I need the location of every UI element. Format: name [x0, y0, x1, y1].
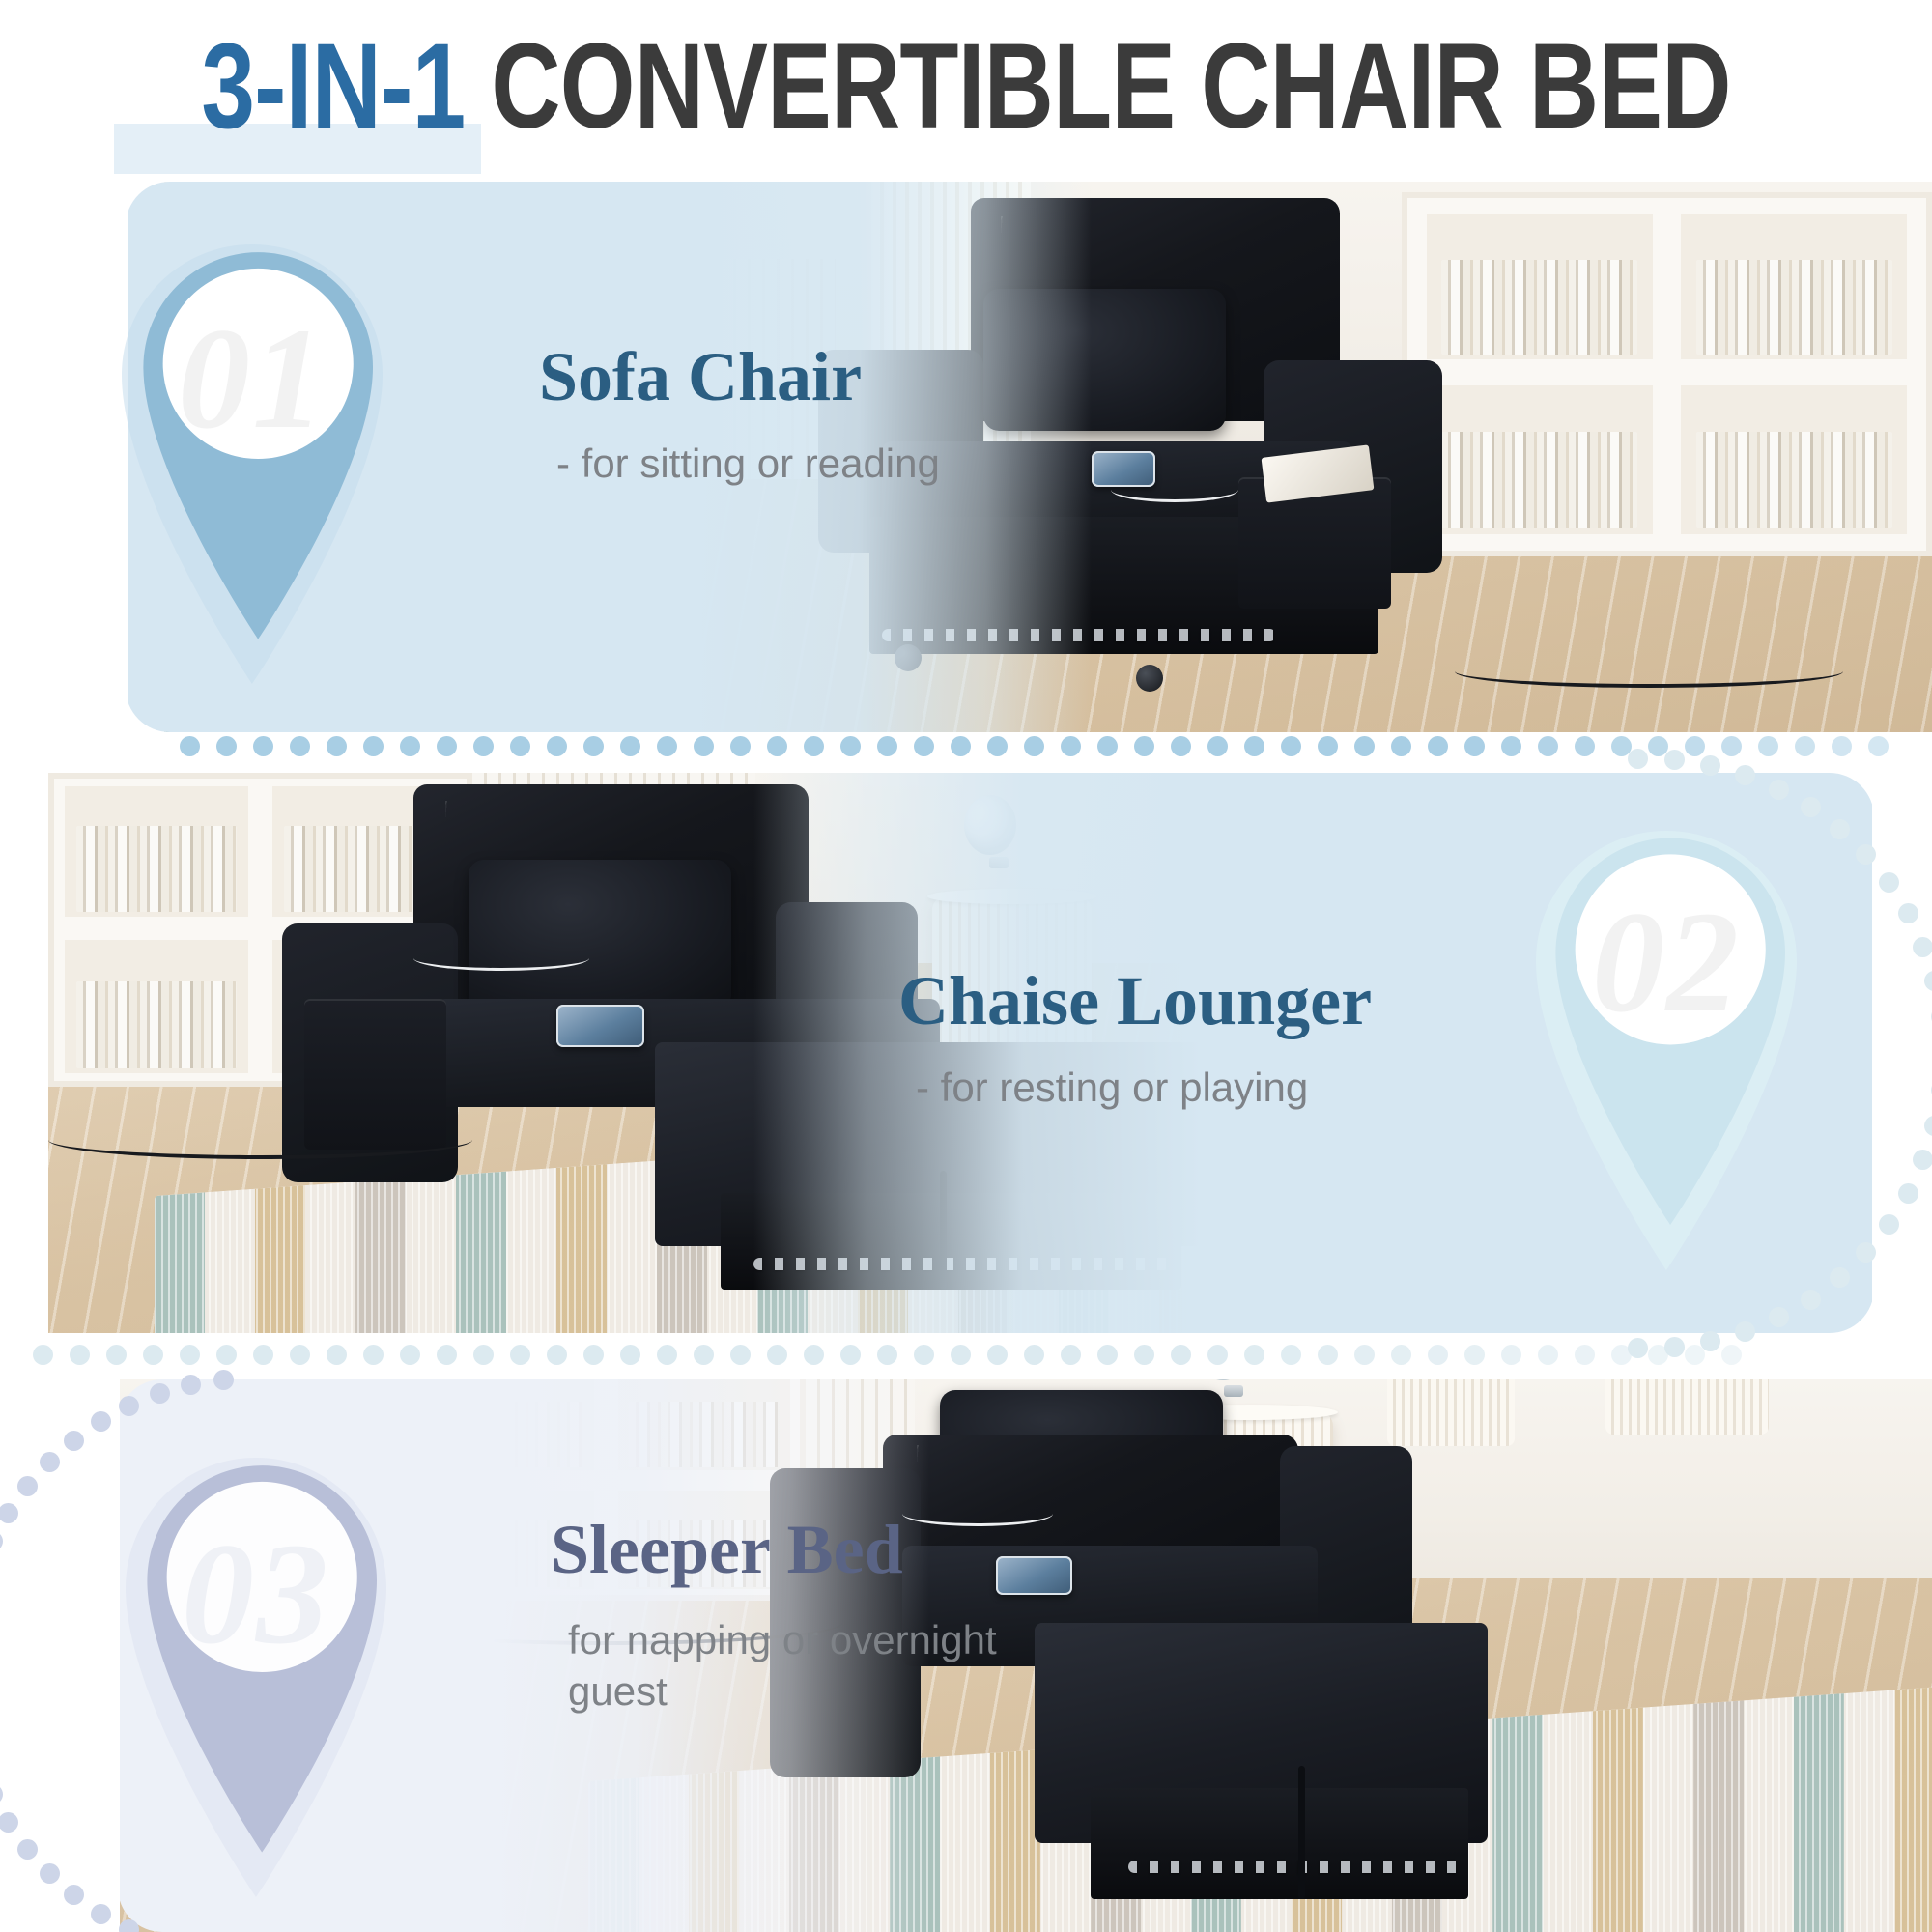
section-chaise-lounger: 02 Chaise Lounger - for resting or playi… — [0, 773, 1932, 1333]
text-block-chaise-lounger: Chaise Lounger - for resting or playing — [898, 966, 1536, 1111]
divider-dot — [1244, 736, 1264, 756]
pin-number-03: 03 — [97, 1511, 415, 1677]
divider-dot — [951, 1345, 971, 1365]
divider-dot — [400, 1345, 420, 1365]
pin-02: 02 — [1507, 773, 1826, 1285]
page-title: 3-IN-1 CONVERTIBLE CHAIR BED — [193, 21, 1739, 152]
divider-dot — [1758, 736, 1778, 756]
divider-dot — [1501, 1345, 1521, 1365]
divider-dot — [1538, 1345, 1558, 1365]
divider-dot — [1061, 1345, 1081, 1365]
divider-dot — [1391, 736, 1411, 756]
divider-dot — [767, 736, 787, 756]
divider-dot — [180, 736, 200, 756]
divider-dot — [363, 736, 384, 756]
divider-dot — [1648, 1345, 1668, 1365]
divider-dot — [620, 1345, 640, 1365]
pin-03: 03 — [97, 1395, 415, 1907]
divider-dot — [620, 736, 640, 756]
divider-dot — [1611, 1345, 1632, 1365]
divider-dot — [1318, 1345, 1338, 1365]
bookshelf — [1402, 192, 1932, 555]
divider-dot — [473, 1345, 494, 1365]
text-block-sofa-chair: Sofa Chair - for sitting or reading — [539, 342, 1138, 487]
divider-dot — [216, 1345, 237, 1365]
divider-dot — [253, 1345, 273, 1365]
infographic-page: 3-IN-1 CONVERTIBLE CHAIR BED — [0, 0, 1932, 1932]
title-accent-text: 3-IN-1 — [201, 19, 465, 154]
divider-dot — [1868, 736, 1889, 756]
divider-dot — [1464, 1345, 1485, 1365]
divider-dot — [1721, 736, 1742, 756]
section-subtitle-01: - for sitting or reading — [556, 440, 1138, 487]
divider-dot — [1244, 1345, 1264, 1365]
divider-dot — [510, 1345, 530, 1365]
divider-dot — [657, 1345, 677, 1365]
divider-dot — [1685, 736, 1705, 756]
divider-dot — [987, 736, 1008, 756]
divider-dot — [1428, 736, 1448, 756]
divider-dot — [583, 736, 604, 756]
divider-dot — [327, 736, 347, 756]
divider-dot — [1575, 1345, 1595, 1365]
divider-dot — [253, 736, 273, 756]
divider-dot — [437, 736, 457, 756]
divider-dot — [1097, 1345, 1118, 1365]
divider-dot — [951, 736, 971, 756]
divider-dot — [1685, 1345, 1705, 1365]
divider-dot — [840, 1345, 861, 1365]
divider-dot — [1281, 1345, 1301, 1365]
divider-dot — [216, 736, 237, 756]
section-subtitle-03: for napping or overnight guest — [568, 1615, 1022, 1717]
divider-dot — [363, 1345, 384, 1365]
divider-dot — [877, 1345, 897, 1365]
divider-dots-2 — [0, 1345, 1932, 1366]
pin-number-02: 02 — [1507, 879, 1826, 1045]
pin-number-01: 01 — [93, 296, 412, 462]
divider-dot — [730, 1345, 751, 1365]
divider-dot — [106, 1345, 127, 1365]
divider-dot — [767, 1345, 787, 1365]
divider-dot — [804, 1345, 824, 1365]
divider-dot — [1391, 1345, 1411, 1365]
divider-dot — [1207, 736, 1228, 756]
divider-dot — [400, 736, 420, 756]
divider-dot — [1318, 736, 1338, 756]
divider-dot — [1721, 1345, 1742, 1365]
divider-dot — [804, 736, 824, 756]
divider-dot — [1354, 736, 1375, 756]
divider-dot — [180, 1345, 200, 1365]
divider-dot — [877, 736, 897, 756]
section-title-02: Chaise Lounger — [898, 966, 1536, 1036]
divider-dot — [914, 736, 934, 756]
divider-dot — [694, 1345, 714, 1365]
divider-dot — [694, 736, 714, 756]
divider-dot — [1134, 736, 1154, 756]
divider-dot — [33, 1345, 53, 1365]
section-subtitle-02: - for resting or playing — [916, 1065, 1536, 1111]
divider-dot — [547, 736, 567, 756]
divider-dot — [1097, 736, 1118, 756]
divider-dot — [1281, 736, 1301, 756]
section-sleeper-bed: 03 Sleeper Bed for napping or overnight … — [0, 1379, 1932, 1932]
divider-dot — [1024, 736, 1044, 756]
divider-dot — [987, 1345, 1008, 1365]
section-title-03: Sleeper Bed — [551, 1515, 1053, 1584]
section-title-01: Sofa Chair — [539, 342, 1138, 412]
divider-dot — [143, 1345, 163, 1365]
divider-dot — [1648, 736, 1668, 756]
divider-dot — [1464, 736, 1485, 756]
divider-dot — [840, 736, 861, 756]
divider-dot — [1134, 1345, 1154, 1365]
divider-dot — [1171, 1345, 1191, 1365]
divider-dot — [914, 1345, 934, 1365]
divider-dot — [1832, 736, 1852, 756]
pin-01: 01 — [93, 182, 412, 694]
divider-dot — [1171, 736, 1191, 756]
divider-dot — [290, 1345, 310, 1365]
divider-dot — [547, 1345, 567, 1365]
divider-dot — [583, 1345, 604, 1365]
divider-dot — [1207, 1345, 1228, 1365]
divider-dot — [730, 736, 751, 756]
divider-dot — [1501, 736, 1521, 756]
divider-dot — [1795, 736, 1815, 756]
divider-dot — [657, 736, 677, 756]
page-header: 3-IN-1 CONVERTIBLE CHAIR BED — [0, 0, 1932, 174]
smartphone — [556, 1005, 644, 1048]
divider-dots-1 — [0, 736, 1932, 757]
divider-dot — [290, 736, 310, 756]
divider-dot — [473, 736, 494, 756]
divider-dot — [1428, 1345, 1448, 1365]
divider-dot — [1354, 1345, 1375, 1365]
divider-dot — [1024, 1345, 1044, 1365]
divider-dot — [70, 1345, 90, 1365]
divider-dot — [1611, 736, 1632, 756]
divider-dot — [1575, 736, 1595, 756]
title-main-text: CONVERTIBLE CHAIR BED — [491, 19, 1730, 154]
divider-dot — [1538, 736, 1558, 756]
divider-dot — [437, 1345, 457, 1365]
section-sofa-chair: 01 Sofa Chair - for sitting or reading — [0, 182, 1932, 732]
text-block-sleeper-bed: Sleeper Bed for napping or overnight gue… — [551, 1515, 1053, 1717]
divider-dot — [327, 1345, 347, 1365]
divider-dot — [1061, 736, 1081, 756]
divider-dot — [510, 736, 530, 756]
